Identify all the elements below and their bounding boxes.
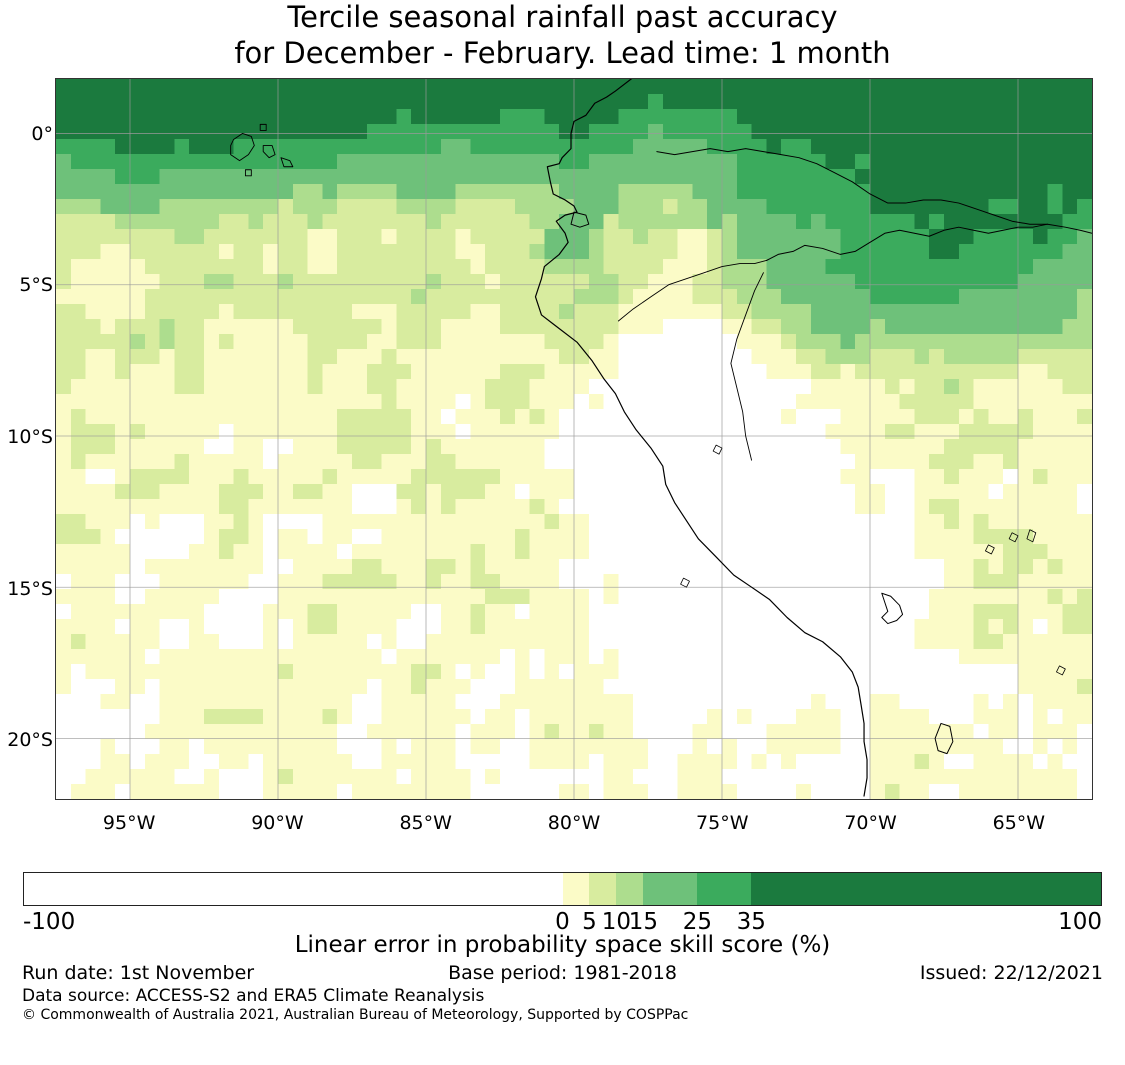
colorbar-segment <box>563 873 590 905</box>
galapagos-floreana <box>245 170 251 176</box>
small-lake-central <box>713 445 722 454</box>
colorbar-segment <box>697 873 751 905</box>
x-tick-label: 75°W <box>696 812 748 834</box>
galapagos-pinta <box>260 124 266 130</box>
galapagos-santa-cruz <box>263 146 275 158</box>
x-tick-label: 95°W <box>103 812 155 834</box>
colorbar <box>23 872 1102 906</box>
colorbar-segment <box>643 873 697 905</box>
ucayali-river <box>731 273 764 460</box>
small-island-coastal <box>681 578 690 587</box>
small-lake-northeast <box>1027 530 1036 542</box>
chart-title-line2: for December - February. Lead time: 1 mo… <box>0 34 1125 72</box>
figure-root: Tercile seasonal rainfall past accuracy … <box>0 0 1125 1065</box>
map-plot-area <box>55 78 1093 800</box>
y-tick-label: 0° <box>31 123 53 145</box>
colorbar-segment <box>751 873 1101 905</box>
footer-data-source: Data source: ACCESS-S2 and ERA5 Climate … <box>22 986 484 1006</box>
colorbar-segment <box>589 873 616 905</box>
x-tick-label: 85°W <box>399 812 451 834</box>
y-tick-label: 5°S <box>19 274 53 296</box>
footer-copyright: © Commonwealth of Australia 2021, Austra… <box>22 1007 688 1023</box>
y-tick-label: 15°S <box>7 578 53 600</box>
napo-putumayo-river <box>657 149 1048 225</box>
y-tick-label: 10°S <box>7 426 53 448</box>
small-lake-west <box>985 545 994 554</box>
coastline-south-america <box>535 79 867 796</box>
lake-titicaca <box>882 593 903 623</box>
colorbar-segment <box>24 873 563 905</box>
small-lake-north <box>1009 533 1018 542</box>
x-tick-label: 80°W <box>548 812 600 834</box>
x-tick-label: 90°W <box>251 812 303 834</box>
amazon-river <box>766 224 1092 260</box>
galapagos-isabela <box>231 133 255 160</box>
x-tick-label: 70°W <box>844 812 896 834</box>
chart-title-line1: Tercile seasonal rainfall past accuracy <box>0 0 1125 36</box>
footer-issued: Issued: 22/12/2021 <box>920 962 1103 984</box>
y-tick-label: 20°S <box>7 729 53 751</box>
x-tick-label: 65°W <box>993 812 1045 834</box>
maranon-river <box>618 260 766 321</box>
small-lake-southeast <box>1056 666 1065 675</box>
galapagos-san-cristobal <box>281 158 293 167</box>
colorbar-label: Linear error in probability space skill … <box>0 932 1125 958</box>
colorbar-segment <box>616 873 643 905</box>
map-overlay <box>56 79 1092 799</box>
